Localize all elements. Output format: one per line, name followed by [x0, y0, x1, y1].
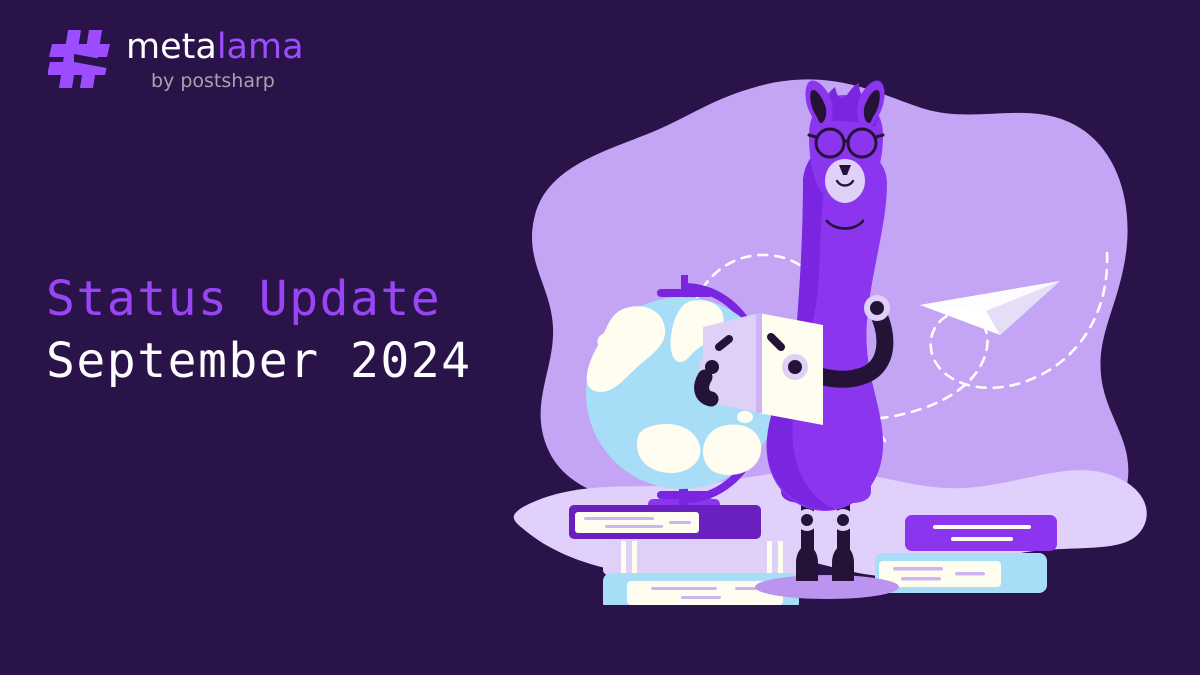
metalama-hash-icon [48, 28, 112, 90]
wordmark-lama: lama [217, 27, 304, 67]
poster-canvas: metalama by postsharp Status Update Sept… [0, 0, 1200, 675]
llama-shadow [755, 575, 899, 599]
wordmark-line: metalama [126, 28, 304, 66]
logo-byline: by postsharp [151, 69, 304, 93]
wordmark-meta: meta [126, 27, 217, 67]
book-spine [756, 313, 762, 413]
globe-ring-bottom-bar [657, 491, 713, 499]
headline-title: Status Update [46, 268, 472, 330]
metalama-wordmark: metalama by postsharp [126, 28, 304, 93]
headline-block: Status Update September 2024 [46, 268, 472, 392]
metalama-logo[interactable]: metalama by postsharp [48, 28, 304, 93]
book-right-top [905, 515, 1057, 551]
headline-date: September 2024 [46, 330, 472, 392]
llama-illustration [505, 75, 1165, 605]
